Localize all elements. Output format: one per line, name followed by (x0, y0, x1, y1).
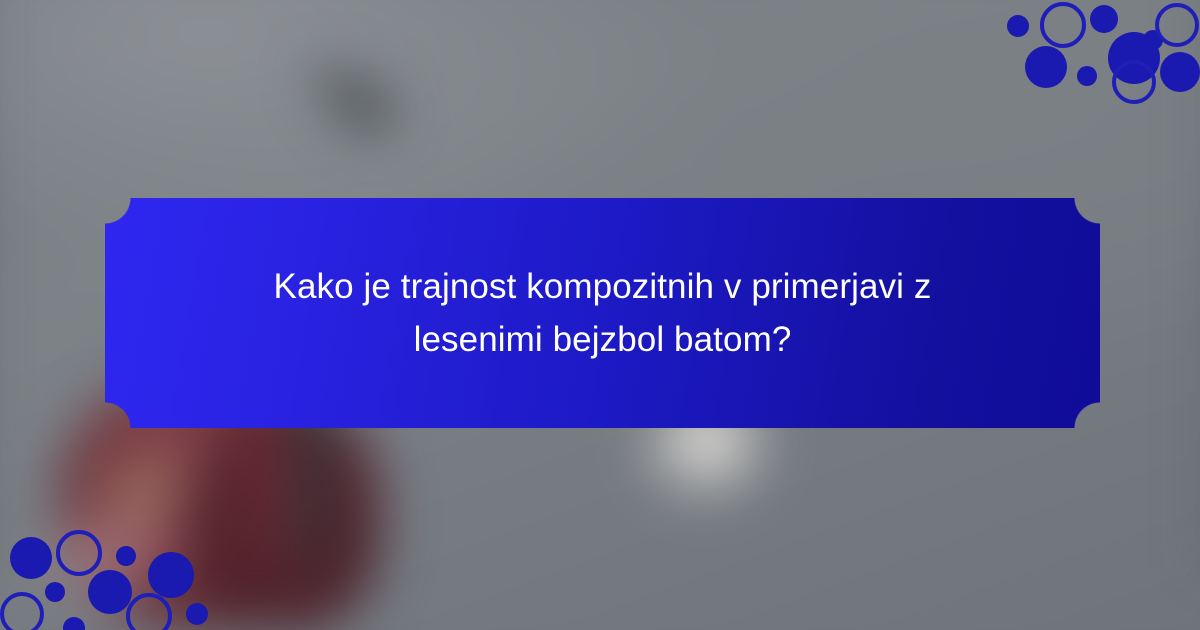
decorative-circle-icon (148, 552, 194, 598)
question-card: Kako je trajnost kompozitnih v primerjav… (0, 0, 1200, 630)
decorative-circle-outline-icon (1112, 60, 1156, 104)
question-headline: Kako je trajnost kompozitnih v primerjav… (193, 260, 1013, 366)
decorative-circle-icon (186, 603, 208, 625)
decorative-circle-icon (1007, 15, 1029, 37)
background-blur-shape (190, 400, 380, 630)
question-banner: Kako je trajnost kompozitnih v primerjav… (105, 198, 1100, 428)
decorative-circle-icon (1160, 52, 1200, 92)
decorative-circle-icon (1025, 46, 1067, 88)
decorative-circle-outline-icon (56, 530, 102, 576)
decorative-circle-icon (116, 546, 136, 566)
background-blur-shape (344, 88, 390, 132)
background-blur-shape (80, 445, 200, 535)
decorative-circle-icon (10, 537, 52, 579)
decorative-circle-outline-icon (1155, 3, 1199, 47)
decorative-circle-outline-icon (0, 592, 44, 630)
decorative-circle-icon (45, 582, 65, 602)
decorative-circle-outline-icon (1040, 2, 1086, 48)
decorative-circle-icon (1090, 5, 1118, 33)
decorative-circle-icon (1077, 66, 1097, 86)
decorative-circle-icon (88, 570, 132, 614)
